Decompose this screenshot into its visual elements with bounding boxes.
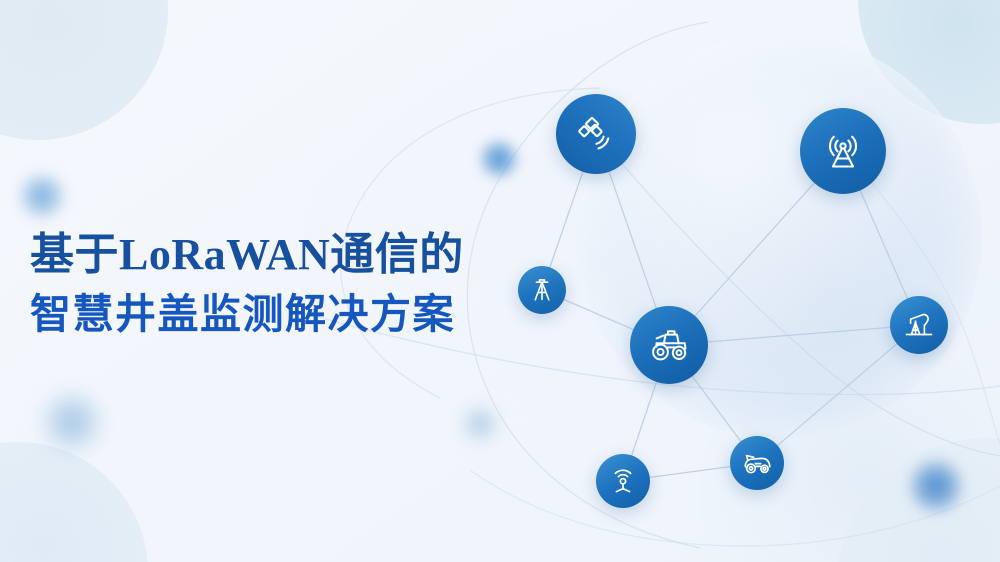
- node-survey-tripod[interactable]: [518, 266, 566, 314]
- satellite-dish-icon: [572, 110, 620, 158]
- accent-dot-mid-lower: [460, 404, 500, 444]
- utility-vehicle-icon: [740, 446, 774, 480]
- oil-pumpjack-icon: [902, 308, 936, 342]
- accent-dot-left-upper: [18, 172, 66, 220]
- wireless-sensor-icon: [606, 464, 640, 498]
- slide-title: 基于LoRaWAN通信的 智慧井盖监测解决方案: [30, 228, 464, 347]
- node-satellite[interactable]: [556, 94, 636, 174]
- slide-canvas: 基于LoRaWAN通信的 智慧井盖监测解决方案: [0, 0, 1000, 562]
- node-utility-vehicle[interactable]: [730, 436, 784, 490]
- node-wireless-sensor[interactable]: [596, 454, 650, 508]
- survey-tripod-icon: [528, 276, 556, 304]
- node-radio-tower[interactable]: [800, 108, 886, 194]
- node-tractor[interactable]: [630, 306, 708, 384]
- accent-dot-center-left: [478, 138, 520, 180]
- accent-dot-right-lower: [908, 458, 964, 514]
- radio-tower-icon: [818, 126, 868, 176]
- tractor-icon: [644, 320, 694, 370]
- node-oil-pumpjack[interactable]: [890, 296, 948, 354]
- accent-dot-left-lower: [40, 390, 104, 454]
- title-line-2: 智慧井盖监测解决方案: [30, 282, 464, 348]
- title-line-1: 基于LoRaWAN通信的: [30, 228, 464, 282]
